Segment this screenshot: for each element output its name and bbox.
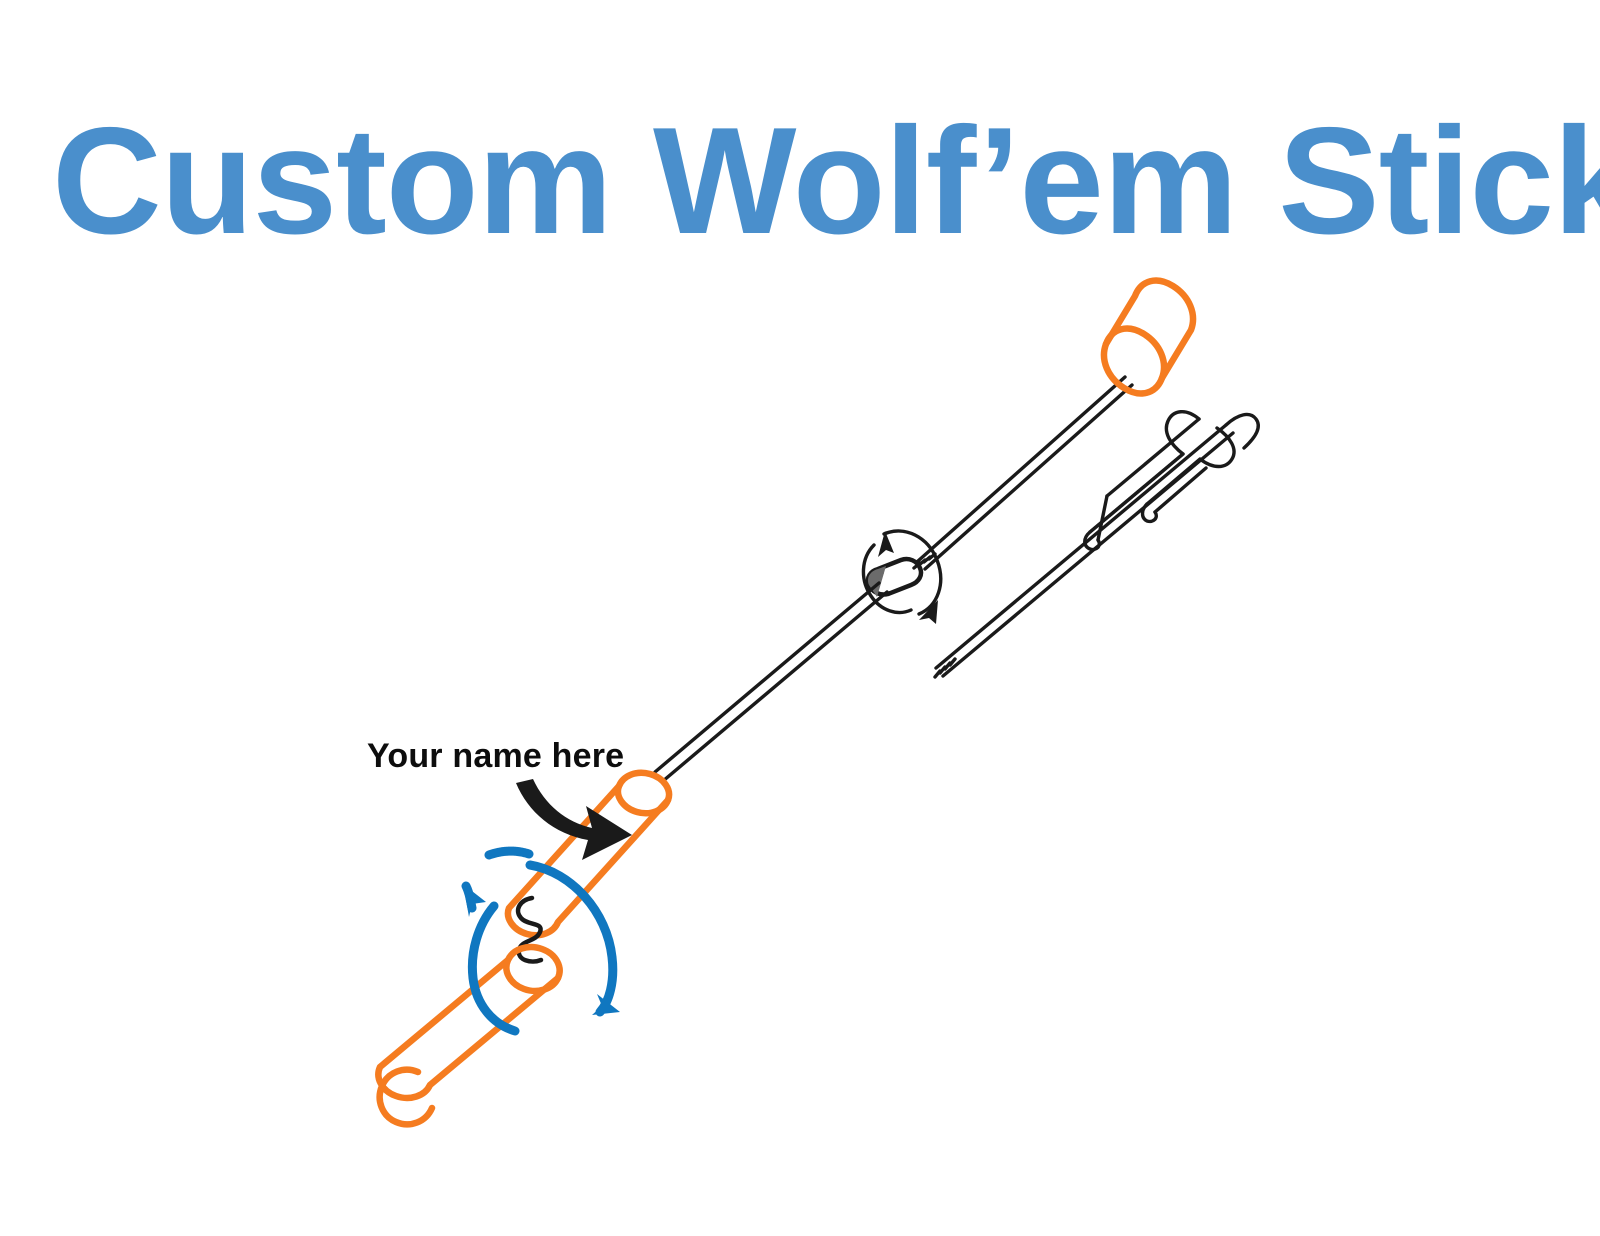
fork-attachment xyxy=(935,412,1258,677)
threaded-joint xyxy=(863,531,940,624)
extension-shaft xyxy=(655,583,887,781)
marshmallow xyxy=(1104,281,1193,394)
product-diagram: .ln { fill:none; stroke:#1a1a1a; stroke-… xyxy=(0,0,1600,1236)
skewer-assembly xyxy=(914,281,1193,569)
page-canvas: Custom Wolf’em Stick .ln { fill:none; st… xyxy=(0,0,1600,1236)
personalization-label: Your name here xyxy=(367,737,624,776)
